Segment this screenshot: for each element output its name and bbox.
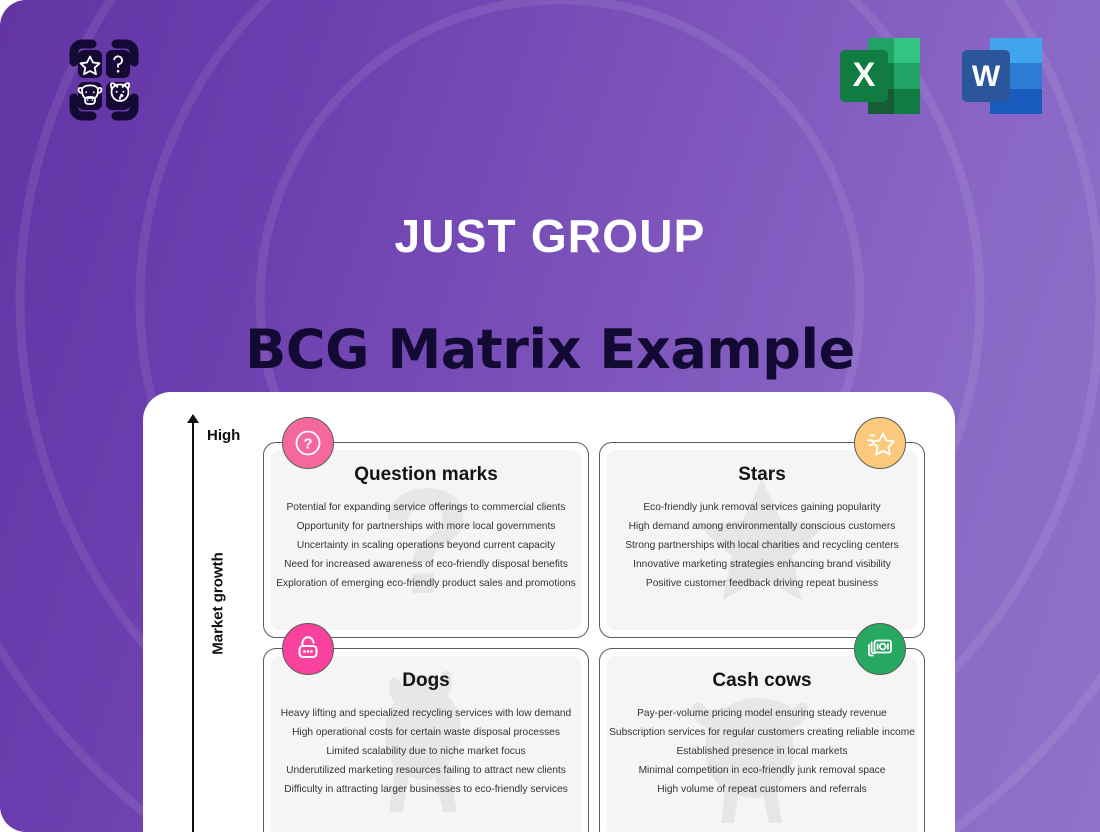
- office-app-icons: X W: [834, 28, 1052, 124]
- bcg-matrix-slide: X W JUST GROUP BCG Matrix Example High M…: [0, 0, 1100, 832]
- quadrant-title: Cash cows: [712, 670, 811, 692]
- quadrant-title: Stars: [738, 464, 786, 486]
- brand-name: JUST GROUP: [0, 209, 1100, 263]
- list-item: High demand among environmentally consci…: [629, 517, 896, 536]
- quadrant-item-list: Heavy lifting and specialized recycling …: [271, 704, 581, 799]
- dog-face-icon: [292, 633, 324, 665]
- quadrant-question-marks[interactable]: ? Question marks Potential for expanding…: [263, 442, 589, 638]
- list-item: Established presence in local markets: [676, 742, 847, 761]
- list-item: Innovative marketing strategies enhancin…: [633, 555, 891, 574]
- quadrant-item-list: Pay-per-volume pricing model ensuring st…: [607, 704, 917, 799]
- list-item: Heavy lifting and specialized recycling …: [281, 704, 571, 723]
- list-item: Strong partnerships with local charities…: [625, 536, 899, 555]
- list-item: Need for increased awareness of eco-frie…: [284, 555, 568, 574]
- list-item: Potential for expanding service offering…: [287, 498, 566, 517]
- list-item: Subscription services for regular custom…: [609, 723, 915, 742]
- stars-badge[interactable]: [854, 417, 906, 469]
- quadrant-dogs-body: Dogs Heavy lifting and specialized recyc…: [271, 656, 581, 832]
- y-axis-line: [192, 420, 194, 832]
- quadrant-stars[interactable]: Stars Eco-friendly junk removal services…: [599, 442, 925, 638]
- list-item: Underutilized marketing resources failin…: [286, 761, 566, 780]
- list-item: Pay-per-volume pricing model ensuring st…: [637, 704, 887, 723]
- quadrant-cash-cows-body: Cash cows Pay-per-volume pricing model e…: [607, 656, 917, 832]
- list-item: Uncertainty in scaling operations beyond…: [297, 536, 555, 555]
- question-marks-badge[interactable]: ?: [282, 417, 334, 469]
- question-mark-icon: ?: [293, 428, 323, 458]
- list-item: Minimal competition in eco-friendly junk…: [639, 761, 886, 780]
- quadrant-stars-body: Stars Eco-friendly junk removal services…: [607, 450, 917, 630]
- y-axis-title: Market growth: [210, 534, 227, 674]
- y-axis-high-label: High: [207, 427, 240, 444]
- quadrant-item-list: Eco-friendly junk removal services gaini…: [607, 498, 917, 593]
- quadrant-cash-cows[interactable]: Cash cows Pay-per-volume pricing model e…: [599, 648, 925, 832]
- cash-cows-badge[interactable]: [854, 623, 906, 675]
- list-item: Limited scalability due to niche market …: [326, 742, 525, 761]
- list-item: High operational costs for certain waste…: [292, 723, 560, 742]
- svg-text:X: X: [853, 56, 876, 94]
- matrix-card: High Market growth ? Question marks Pote…: [143, 392, 955, 832]
- star-icon: [864, 427, 896, 459]
- dogs-badge[interactable]: [282, 623, 334, 675]
- quadrant-question-marks-body: ? Question marks Potential for expanding…: [271, 450, 581, 630]
- list-item: Positive customer feedback driving repea…: [646, 574, 878, 593]
- quadrant-title: Dogs: [402, 670, 450, 692]
- list-item: High volume of repeat customers and refe…: [657, 780, 867, 799]
- list-item: Difficulty in attracting larger business…: [284, 780, 567, 799]
- list-item: Eco-friendly junk removal services gaini…: [643, 498, 880, 517]
- word-icon[interactable]: W: [956, 28, 1052, 124]
- brand-logo: [52, 28, 156, 132]
- quadrant-dogs[interactable]: Dogs Heavy lifting and specialized recyc…: [263, 648, 589, 832]
- quadrant-item-list: Potential for expanding service offering…: [271, 498, 581, 593]
- svg-text:W: W: [972, 60, 1001, 93]
- list-item: Opportunity for partnerships with more l…: [297, 517, 556, 536]
- banknotes-icon: [864, 633, 896, 665]
- svg-text:?: ?: [303, 436, 312, 453]
- y-axis: High Market growth: [181, 420, 251, 832]
- quadrant-title: Question marks: [354, 464, 498, 486]
- page-title: BCG Matrix Example: [0, 318, 1100, 381]
- excel-icon[interactable]: X: [834, 28, 930, 124]
- bcg-matrix-grid: ? Question marks Potential for expanding…: [263, 442, 925, 832]
- list-item: Exploration of emerging eco-friendly pro…: [276, 574, 576, 593]
